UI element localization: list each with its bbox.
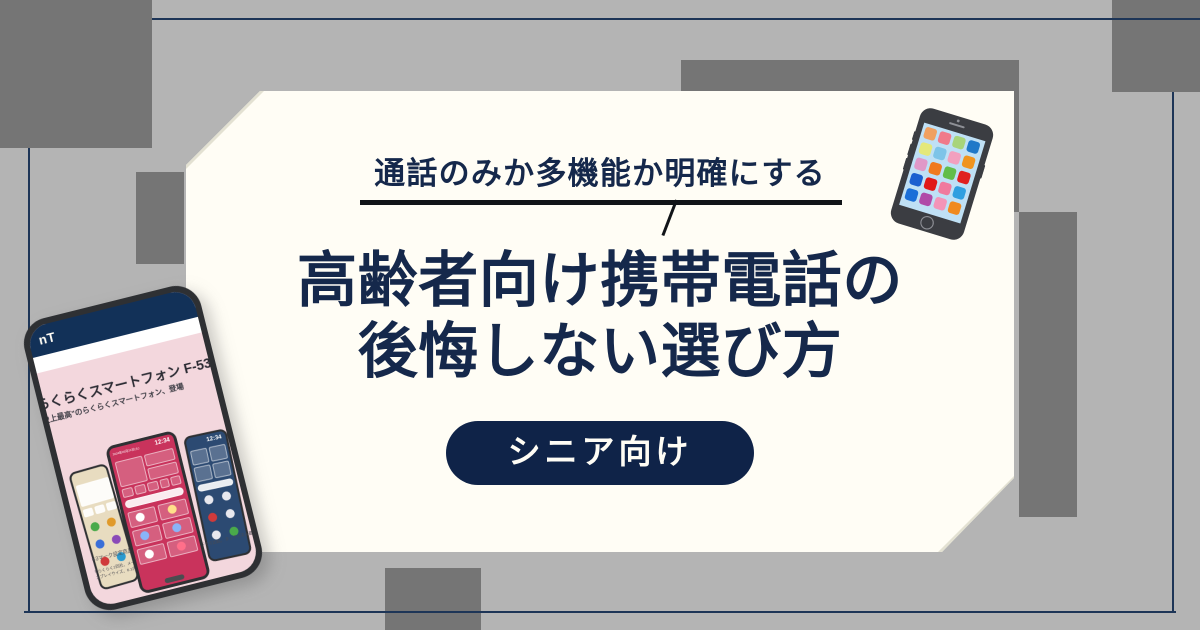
bg-block-top-left <box>0 0 152 148</box>
mini-tile <box>208 444 228 462</box>
mini-tile <box>106 501 118 511</box>
mini-status-time: 12:34 <box>154 437 170 447</box>
bg-block-mid-left <box>136 172 184 264</box>
mini-tile <box>212 460 232 478</box>
bg-block-right <box>1019 212 1077 517</box>
subtitle-underline <box>360 200 842 205</box>
bg-block-top-right <box>1112 0 1200 92</box>
poster-canvas: 通話のみか多機能か明確にする 高齢者向け携帯電話の 後悔しない選び方 シニア向け <box>0 0 1200 630</box>
subtitle-text: 通話のみか多機能か明確にする <box>374 155 826 194</box>
mini-app-dot <box>204 494 215 505</box>
mini-status-date: 2024年05月21日(火) <box>112 446 140 457</box>
mini-tile-3 <box>147 481 160 492</box>
mini-tile-up <box>159 478 170 489</box>
mini-tile <box>94 504 106 514</box>
mini-app-dot <box>106 516 117 527</box>
frame-line-left <box>28 148 30 611</box>
mini-home-button <box>164 574 185 584</box>
mini-app-dot <box>207 512 218 523</box>
mini-tile <box>193 464 213 482</box>
mini-tile <box>190 448 210 466</box>
brand-logo: nT <box>37 329 57 348</box>
mini-tile-2 <box>134 484 147 495</box>
mini-app-dot <box>225 508 236 519</box>
mini-status-time: 12:34 <box>206 434 222 443</box>
mini-tile <box>82 507 94 517</box>
frame-line-bottom <box>24 611 1176 613</box>
mini-tile-phone <box>115 456 148 488</box>
page-title: 高齢者向け携帯電話の 後悔しない選び方 <box>297 246 903 388</box>
mini-app-dot <box>111 534 122 545</box>
bg-block-bottom <box>385 568 481 630</box>
frame-line-top <box>152 18 1200 20</box>
mini-app-dot <box>221 491 232 502</box>
main-card: 通話のみか多機能か明確にする 高齢者向け携帯電話の 後悔しない選び方 シニア向け <box>186 91 1014 552</box>
frame-line-right <box>1172 92 1174 611</box>
status-badge: シニア向け <box>446 421 755 485</box>
page-title-line-2: 後悔しない選び方 <box>297 317 903 388</box>
mini-tile-1 <box>121 487 134 498</box>
mini-app-dot <box>94 538 105 549</box>
mini-tile-check <box>170 475 182 486</box>
page-title-line-1: 高齢者向け携帯電話の <box>297 246 903 317</box>
card-content: 通話のみか多機能か明確にする 高齢者向け携帯電話の 後悔しない選び方 シニア向け <box>186 91 1014 552</box>
subtitle-block: 通話のみか多機能か明確にする <box>374 155 826 194</box>
mini-app-dot <box>89 521 100 532</box>
